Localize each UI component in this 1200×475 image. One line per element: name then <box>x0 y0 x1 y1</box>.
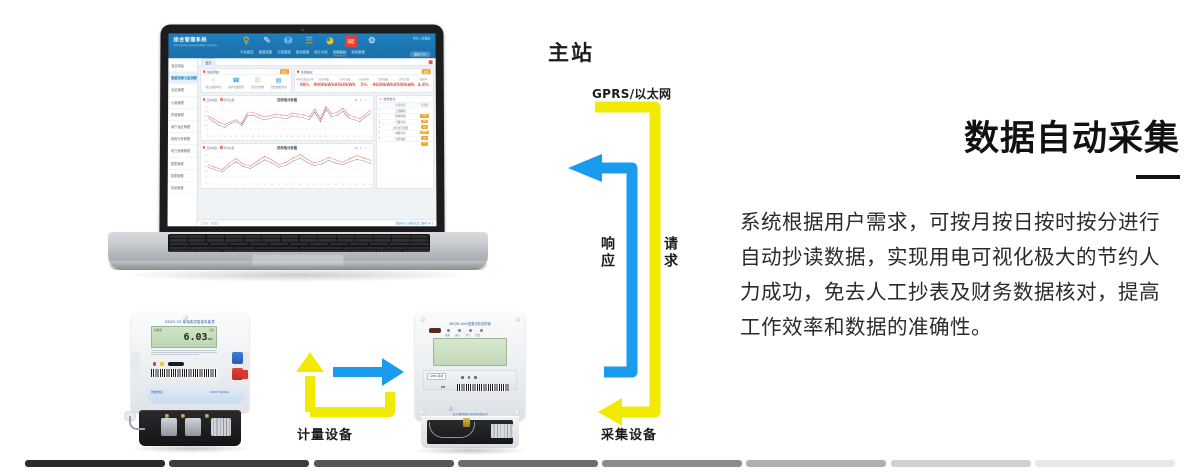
x-tick: 25 <box>291 135 293 137</box>
collector-device-label: 采集设备 <box>601 424 657 443</box>
quick-nav-card: 快捷导航 更多 ⚡ 重点用能单位 ☎ <box>200 68 292 93</box>
settings-icon[interactable]: ⚙ <box>366 35 378 47</box>
quick-item-0[interactable]: ⚡ 重点用能单位 <box>206 78 222 89</box>
data-collection-terminal: MCDR-1000型集中抄控终端 电源 运行 下行 告警 GPRS 模块 CE … <box>415 312 525 452</box>
row-type: 计量异常 <box>383 120 417 124</box>
body-paragraph: 系统根据用户需求，可按月按日按时按分进行自动抄读数据，实现用电可视化极大的节约人… <box>740 205 1180 346</box>
x-tick: 2 <box>214 184 215 186</box>
sidebar-item-1[interactable]: 数据采集与监测管理 <box>168 72 197 84</box>
laptop-keyboard <box>168 234 430 252</box>
x-tick: 21 <box>269 135 271 137</box>
kpi-stat-2-value: 8560kWh <box>335 82 356 87</box>
kpi-stats: 本期采集成功率 98% 日用电量 9000kWh 日有功量 <box>295 75 433 89</box>
sidebar-item-7[interactable]: 电力营销管理 <box>168 145 197 157</box>
x-tick: 28 <box>308 135 310 137</box>
alarm-col-type: 告警类型 <box>383 103 417 107</box>
meter-body: DDZY-3Z 单相费控智能电能表 总电量 当前 6.03kWh <box>131 312 249 412</box>
sidebar-item-0[interactable]: 首页导航 <box>168 60 197 72</box>
monthly-chart-plot: 6050403020100 12345678910111213141516171… <box>208 151 371 188</box>
metering-device-label: 计量设备 <box>297 424 353 443</box>
quick-item-1[interactable]: ☎ 用户档案管理 <box>228 78 244 89</box>
request-label: 请求 <box>660 236 680 270</box>
x-tick: 30 <box>319 135 321 137</box>
x-tick: 27 <box>302 135 304 137</box>
x-tick: 22 <box>274 135 276 137</box>
x-tick: 21 <box>349 184 351 186</box>
gradient-bar-0 <box>25 460 165 467</box>
x-tick: 14 <box>229 135 231 137</box>
x-tick: 5 <box>354 135 355 137</box>
gprs-link-label: GPRS/以太网 <box>592 85 671 102</box>
response-label: 响应 <box>597 236 617 270</box>
alarm-icon: ⚠ <box>379 97 382 101</box>
response-arrow-path <box>600 168 632 372</box>
collector-shadow <box>411 446 529 455</box>
meter-lcd-label-right: 当前 <box>209 328 214 332</box>
quick-item-2[interactable]: ☷ 台区分布图 <box>251 78 264 89</box>
x-tick: 6 <box>243 184 244 186</box>
x-tick: 18 <box>327 184 329 186</box>
meter-lcd: 总电量 当前 6.03kWh <box>151 326 217 348</box>
meter-lcd-unit: kWh <box>208 337 213 341</box>
x-tick: 31 <box>325 135 327 137</box>
x-tick: 22 <box>356 184 358 186</box>
menu-item-6[interactable]: 系统管理 <box>351 49 365 56</box>
quick-item-2-label: 台区分布图 <box>251 85 264 89</box>
x-tick: 17 <box>246 135 248 137</box>
mail-icon[interactable]: ✉ <box>345 35 357 47</box>
kpi-stat-2: 日有功量 8560kWh <box>335 77 356 87</box>
x-tick: 23 <box>363 184 365 186</box>
kpi-stat-0: 本期采集成功率 98% <box>296 77 313 87</box>
meter-wire <box>129 416 145 430</box>
app-toolbar-icons[interactable]: ♀ ✎ ⛁ ☰ ◕ ✉ ⚙ <box>240 35 378 47</box>
daily-chart-tools[interactable]: ▤ ↻ ⇩ ⛶ <box>355 98 371 102</box>
webcam-icon <box>301 28 304 31</box>
laptop-screen: 综合管理系统 INTEGRATED MANAGEMENT SYSTEM ♀ ✎ … <box>167 33 436 226</box>
monthly-chart-x-axis: 123456789101112131415161718192021222324 <box>208 183 371 188</box>
quick-item-3-label: 历史数据查询 <box>271 85 287 89</box>
sidebar-item-3[interactable]: 计量管理 <box>168 97 197 109</box>
kpi-stat-3-label: 日功损率 <box>356 77 373 81</box>
title-underline <box>1136 175 1180 179</box>
quick-nav-more-button[interactable]: 更多 <box>280 69 289 74</box>
download-icon[interactable]: ⇩ <box>364 145 367 149</box>
x-tick: 20 <box>263 135 265 137</box>
led-red-icon <box>153 362 156 365</box>
x-tick: 10 <box>271 184 273 186</box>
menu-item-5[interactable]: 系统监控 <box>333 49 347 56</box>
app-logo: 综合管理系统 INTEGRATED MANAGEMENT SYSTEM <box>173 37 216 46</box>
gradient-bar-2 <box>314 460 454 467</box>
gradient-progress-bars <box>0 460 1200 467</box>
sidebar-item-10[interactable]: 系统管理 <box>168 182 197 194</box>
collector-led-label-2: 下行 <box>465 333 470 337</box>
collector-led-label-1: 运行 <box>455 333 460 337</box>
meter-lcd-label-left: 总电量 <box>154 328 162 332</box>
alarm-table-body: 1三相断相1322终端离线283计量异常164过压欠压报警2055电量异常446… <box>377 109 433 143</box>
x-tick: 20 <box>342 184 344 186</box>
kpi-stat-5-label: 月有功量 <box>394 77 415 81</box>
kpi-stat-4-label: 月用电量 <box>373 77 394 81</box>
logout-button[interactable]: 退出 Exit <box>410 51 431 57</box>
monthly-usage-chart: 月用电量 月有功量 月用电分析图 ▤ ↻ ⇩ ⛶ <box>200 143 374 189</box>
kpi-stat-6-label: 线损率 <box>415 77 432 81</box>
sidebar-item-8[interactable]: 报表管理 <box>168 158 197 170</box>
meter-lcd-value: 6.03 <box>183 332 207 343</box>
kpi-stat-1-label: 日用电量 <box>313 77 334 81</box>
collector-barcode <box>457 384 509 391</box>
app-header-right[interactable]: 中文 | 管理员 退出 Exit <box>410 36 431 59</box>
app-main: 首页 快捷导航 更多 <box>198 58 437 226</box>
terminal-clamp <box>161 418 177 436</box>
x-tick: 15 <box>235 135 237 137</box>
app-logo-subtext: INTEGRATED MANAGEMENT SYSTEM <box>173 44 216 47</box>
sidebar-item-6[interactable]: 用电分析管理 <box>168 133 197 145</box>
collector-body: MCDR-1000型集中抄控终端 电源 运行 下行 告警 GPRS 模块 CE … <box>415 312 525 420</box>
row-type: 过压欠压报警 <box>383 126 417 130</box>
chart-column: 日用电量 日有功量 日用电分析图 ▤ ↻ ⇩ ⛶ <box>200 95 374 189</box>
gradient-bar-5 <box>746 460 886 467</box>
refresh-icon[interactable]: ↻ <box>360 145 363 149</box>
meter-blue-button[interactable] <box>232 352 243 364</box>
daily-chart-title: 日用电分析图 <box>201 97 373 102</box>
alarm-table: ⚠ 告警信息 告警类型 告警量 1三相断相1322终端离线283计量异常164过… <box>376 95 434 189</box>
menu-item-1[interactable]: 数据采集 <box>259 49 273 56</box>
collector-ir-port <box>429 328 441 333</box>
daily-chart-x-axis: 1011121314151617181920212223242526272829… <box>208 135 371 140</box>
x-tick: 6 <box>359 135 360 137</box>
master-station-label: 主站 <box>548 37 594 67</box>
kpi-stat-3: 日功损率 5% <box>356 77 373 87</box>
daily-chart-header: 日用电量 日有功量 日用电分析图 ▤ ↻ ⇩ ⛶ <box>201 96 373 103</box>
bolt-icon: ⚡ <box>206 78 222 84</box>
kpi-stat-3-value: 5% <box>356 82 373 87</box>
infographic-canvas: 综合管理系统 INTEGRATED MANAGEMENT SYSTEM ♀ ✎ … <box>0 0 1200 475</box>
x-tick: 11 <box>212 135 214 137</box>
led-yellow-icon <box>160 362 163 365</box>
meter-shadow <box>129 444 253 453</box>
x-tick: 14 <box>299 184 301 186</box>
row-type: 电量异常 <box>384 131 418 135</box>
kpi-stat-0-value: 98% <box>296 82 313 87</box>
x-tick: 16 <box>313 184 315 186</box>
x-tick: 7 <box>250 184 251 186</box>
terminal-screw <box>181 414 185 418</box>
meter-seal <box>242 370 248 379</box>
edit-icon[interactable]: ✎ <box>261 35 273 47</box>
collector-module-label: GPRS 模块 <box>427 373 446 380</box>
request-arrow-head <box>598 398 622 426</box>
bullet-icon <box>297 70 299 72</box>
x-tick: 24 <box>370 184 372 186</box>
kpi-stat-2-label: 日有功量 <box>335 77 356 81</box>
right-content-block: 数据自动采集 系统根据用户需求，可按月按日按时按分进行自动抄读数据，实现用电可视… <box>740 120 1180 346</box>
app-logo-text: 综合管理系统 <box>173 37 206 43</box>
collector-module-leds <box>461 376 477 379</box>
sidebar-item-9[interactable]: 权限管理 <box>168 170 197 182</box>
kpi-stat-5-value: 8500kWh <box>394 82 415 87</box>
kpi-title: 关键指标 <box>301 70 313 74</box>
calendar-icon[interactable]: ⛁ <box>282 35 294 47</box>
phone-icon: ☎ <box>228 78 244 84</box>
kpi-stat-1: 日用电量 9000kWh <box>313 77 334 87</box>
quick-item-1-label: 用户档案管理 <box>228 85 244 89</box>
terminal-screw <box>205 414 209 418</box>
meter-model-title: DDZY-3Z 单相费控智能电能表 <box>131 319 249 324</box>
meter-lcd-value-wrap: 6.03kWh <box>152 333 216 343</box>
menu-item-3[interactable]: 费用管理 <box>296 49 310 56</box>
x-tick: 11 <box>278 184 280 186</box>
meter-model-label: 220V 5(60)A <box>210 390 229 394</box>
meter-spec-text <box>151 350 217 357</box>
kpi-stat-0-label: 本期采集成功率 <box>296 77 313 81</box>
x-tick: 3 <box>342 135 343 137</box>
kpi-refresh-button[interactable]: 刷新 <box>422 69 431 74</box>
kpi-stat-4-value: 9600kWh <box>373 82 394 87</box>
x-tick: 13 <box>292 184 294 186</box>
x-tick: 24 <box>285 135 287 137</box>
app-header: 综合管理系统 INTEGRATED MANAGEMENT SYSTEM ♀ ✎ … <box>168 33 435 58</box>
app-body: 首页导航 数据采集与监测管理 台区管理 计量管理 终端管理 用户台区管理 用电分… <box>167 58 436 226</box>
refresh-icon[interactable]: ↻ <box>360 98 363 102</box>
x-tick: 7 <box>365 135 366 137</box>
collector-ce-mark: CE <box>441 385 445 389</box>
menu-item-0[interactable]: 平台概览 <box>240 49 254 56</box>
x-tick: 9 <box>264 184 265 186</box>
x-tick: 13 <box>224 135 226 137</box>
x-tick: 2 <box>337 135 338 137</box>
kpi-stat-6: 线损率 4.8% <box>415 77 432 87</box>
x-tick: 8 <box>257 184 258 186</box>
x-tick: 10 <box>207 135 209 137</box>
sidebar-item-4[interactable]: 终端管理 <box>168 109 197 121</box>
response-arrow-head <box>568 154 602 182</box>
expand-icon[interactable]: ⛶ <box>369 98 371 102</box>
x-tick: 4 <box>228 184 229 186</box>
x-tick: 1 <box>207 184 208 186</box>
grid-icon: ☷ <box>251 78 264 84</box>
x-tick: 18 <box>252 135 254 137</box>
close-icon[interactable] <box>429 60 433 64</box>
collector-lcd <box>433 338 507 366</box>
x-tick: 5 <box>236 184 237 186</box>
x-tick: 12 <box>285 184 287 186</box>
meter-brand-label: 智能电表 <box>151 390 163 394</box>
meter-uplink-arrow <box>310 392 390 412</box>
x-tick: 16 <box>240 135 242 137</box>
laptop-lid: 综合管理系统 INTEGRATED MANAGEMENT SYSTEM ♀ ✎ … <box>159 24 444 236</box>
x-tick: 19 <box>257 135 259 137</box>
quick-nav-items[interactable]: ⚡ 重点用能单位 ☎ 用户档案管理 ☷ 台区分布 <box>201 75 291 92</box>
kpi-card: 关键指标 刷新 本期采集成功率 98% 日用电量 <box>294 68 434 93</box>
quick-item-0-label: 重点用能单位 <box>206 85 222 89</box>
x-tick: 23 <box>280 135 282 137</box>
meter-ir-port <box>168 362 184 366</box>
quick-nav-title: 快捷导航 <box>207 70 219 74</box>
x-tick: 12 <box>218 135 220 137</box>
laptop-illustration: 综合管理系统 INTEGRATED MANAGEMENT SYSTEM ♀ ✎ … <box>108 24 488 314</box>
collector-indicator-labels: 电源 运行 下行 告警 <box>445 333 480 337</box>
monthly-chart-svg <box>208 151 371 183</box>
row-type: 终端离线 <box>383 115 417 119</box>
gradient-bar-4 <box>602 460 742 467</box>
table-row[interactable]: 6台区线损73 <box>377 137 433 143</box>
monthly-chart-title: 月用电分析图 <box>201 145 373 150</box>
terminal-clamp <box>185 418 201 436</box>
sidebar-item-2[interactable]: 台区管理 <box>168 84 197 96</box>
bullet-icon <box>203 70 205 72</box>
alarm-table-title: 告警信息 <box>383 97 395 101</box>
footer-right-links[interactable]: 帮助中心 | 联系方式 | 版本 V2.1 <box>396 221 434 225</box>
x-tick: 26 <box>297 135 299 137</box>
daily-chart-plot: 35302520151050 1011121314151617181920212… <box>208 103 371 140</box>
collector-indicator-leds <box>447 329 483 332</box>
menu-item-2[interactable]: 计算管理 <box>277 49 291 56</box>
kpi-stat-6-value: 4.8% <box>415 82 432 87</box>
x-tick: 15 <box>306 184 308 186</box>
bar-toggle-icon[interactable]: ▤ <box>355 98 358 102</box>
list-icon[interactable]: ☰ <box>303 35 315 47</box>
gradient-bar-7 <box>1035 460 1175 467</box>
collector-seal-nut <box>463 418 470 427</box>
x-tick: 1 <box>331 135 332 137</box>
kpi-stat-5: 月有功量 8500kWh <box>394 77 415 87</box>
x-tick: 4 <box>348 135 349 137</box>
x-tick: 29 <box>314 135 316 137</box>
page-title: 数据自动采集 <box>740 120 1180 159</box>
collector-led-label-3: 告警 <box>475 333 480 337</box>
user-label: 中文 | 管理员 <box>410 36 431 40</box>
x-tick: 19 <box>334 184 336 186</box>
tab-home[interactable]: 首页 <box>201 58 215 66</box>
meter-terminal-block <box>139 410 241 446</box>
kpi-stat-4: 月用电量 9600kWh <box>373 77 394 87</box>
gradient-bar-3 <box>458 460 598 467</box>
collector-terminal-strip <box>491 424 513 438</box>
dashboard-cards: 快捷导航 更多 ⚡ 重点用能单位 ☎ <box>198 66 436 95</box>
meter-side-ear-left <box>131 352 140 374</box>
dashboard-panels: 日用电量 日有功量 日用电分析图 ▤ ↻ ⇩ ⛶ <box>198 95 437 191</box>
collector-led-label-0: 电源 <box>445 333 450 337</box>
monthly-chart-tools[interactable]: ▤ ↻ ⇩ ⛶ <box>355 145 371 149</box>
meter-uplink-head <box>296 352 324 372</box>
gradient-bar-1 <box>169 460 309 467</box>
menu-item-4[interactable]: 统计分析 <box>314 49 328 56</box>
kpi-stat-1-value: 9000kWh <box>313 82 334 87</box>
x-tick: 3 <box>221 184 222 186</box>
expand-icon[interactable]: ⛶ <box>369 145 371 149</box>
laptop-base <box>108 232 488 270</box>
sidebar-item-5[interactable]: 用户台区管理 <box>168 121 197 133</box>
footer-left-text: 已登录 : 管理员 <box>201 221 219 225</box>
app-sidebar[interactable]: 首页导航 数据采集与监测管理 台区管理 计量管理 终端管理 用户台区管理 用电分… <box>167 58 198 226</box>
table-icon: ▤ <box>271 78 287 84</box>
x-tick: 8 <box>370 135 371 137</box>
bulb-icon[interactable]: ♀ <box>240 35 252 47</box>
daily-usage-chart: 日用电量 日有功量 日用电分析图 ▤ ↻ ⇩ ⛶ <box>200 95 374 141</box>
single-phase-smart-meter: DDZY-3Z 单相费控智能电能表 总电量 当前 6.03kWh <box>125 312 257 452</box>
row-type: 台区线损 <box>384 137 418 141</box>
app-footer: 已登录 : 管理员 帮助中心 | 联系方式 | 版本 V2.1 <box>198 219 437 226</box>
monthly-chart-header: 月用电量 月有功量 月用电分析图 ▤ ↻ ⇩ ⛶ <box>201 144 373 151</box>
meter-barcode <box>151 369 217 377</box>
laptop-trackpad[interactable] <box>252 254 344 266</box>
download-icon[interactable]: ⇩ <box>364 98 367 102</box>
laptop-shadow <box>122 268 474 282</box>
tab-bar[interactable]: 首页 <box>198 58 435 66</box>
pie-chart-icon[interactable]: ◕ <box>324 35 336 47</box>
collector-downlink-head <box>382 358 404 386</box>
x-tick: 17 <box>320 184 322 186</box>
quick-item-3[interactable]: ▤ 历史数据查询 <box>271 78 287 89</box>
row-type: 三相断相 <box>383 109 417 113</box>
meter-indicator-leds <box>153 362 184 366</box>
bar-toggle-icon[interactable]: ▤ <box>355 145 358 149</box>
terminal-strip <box>211 418 231 436</box>
gradient-bar-6 <box>891 460 1031 467</box>
row-count-badge: 73 <box>421 142 429 146</box>
daily-chart-svg <box>208 103 371 135</box>
app-menu[interactable]: 平台概览 数据采集 计算管理 费用管理 统计分析 系统监控 系统管理 <box>240 49 365 56</box>
collector-model-title: MCDR-1000型集中抄控终端 <box>415 321 525 326</box>
